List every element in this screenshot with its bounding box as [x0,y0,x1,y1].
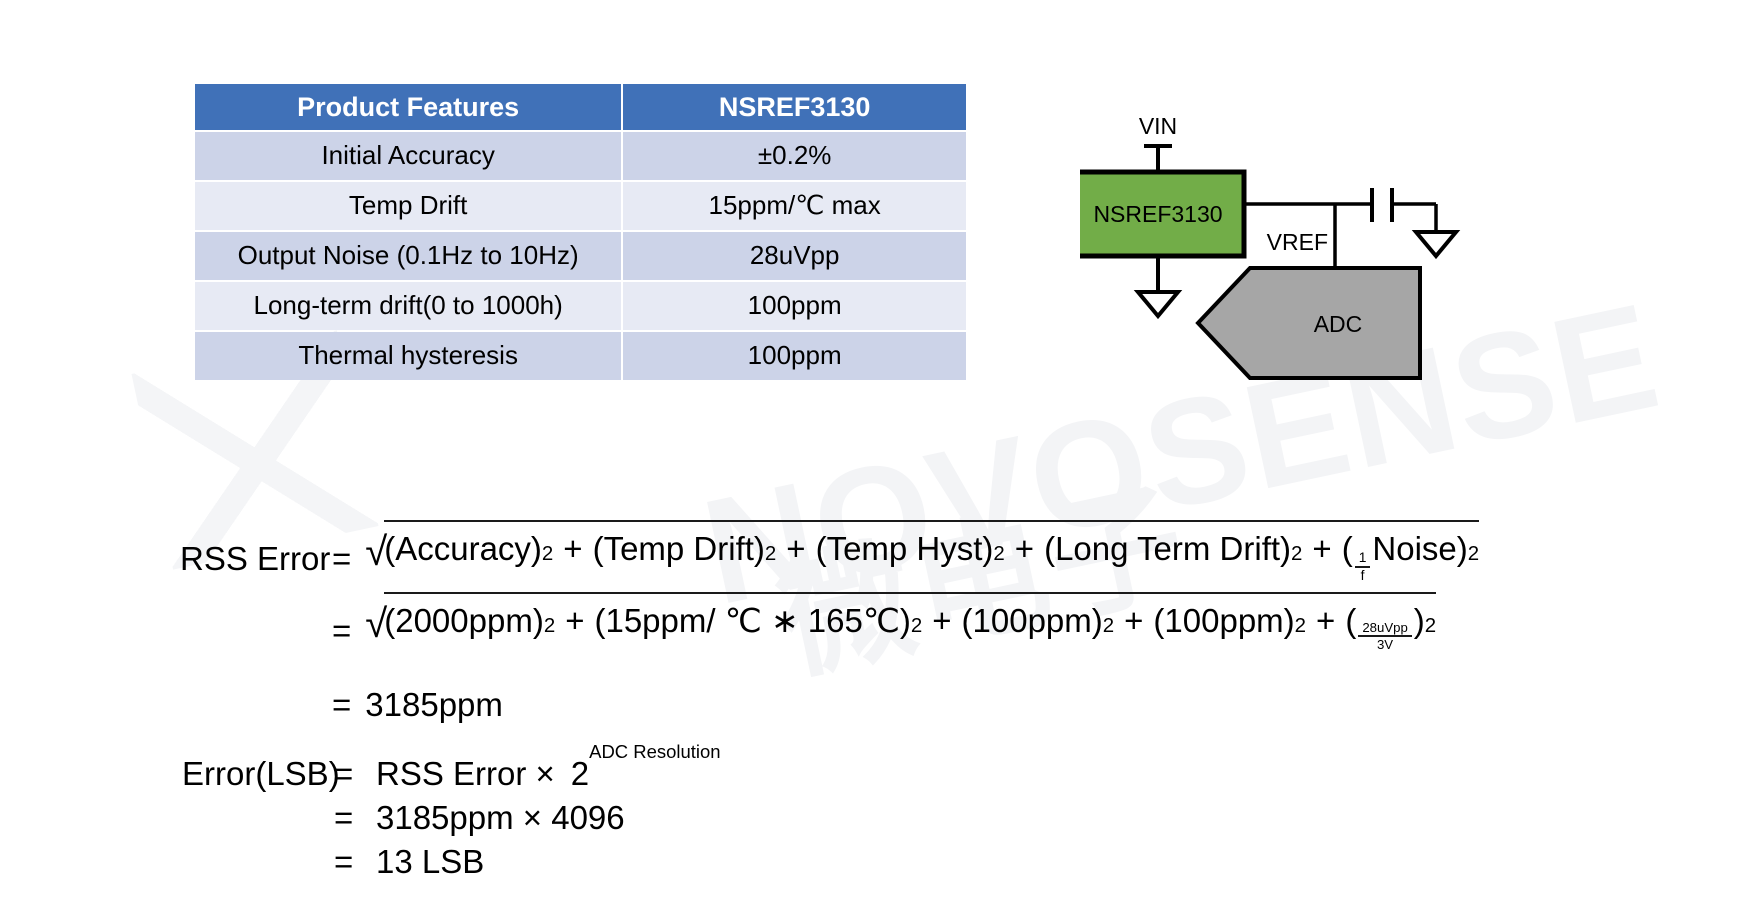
plus-sign-n2: + [932,604,951,637]
term-accuracy: (Accuracy) [384,532,542,565]
rss-error-formula-block: RSS Error = √ (Accuracy)2 + (Temp Drift)… [180,520,1479,721]
noise-fraction-numerator: 28uVpp [1358,620,1411,635]
plus-sign-2: + [786,532,805,565]
error-lsb-line-3: = 13 LSB [182,840,721,884]
cell-value-long-term-drift: 100ppm [623,282,966,330]
lsb-row2-expression: 3185ppm × 4096 [376,796,625,840]
nsref3130-block-label: NSREF3130 [1093,201,1222,227]
vref-label: VREF [1267,229,1328,255]
cell-feature-initial-accuracy: Initial Accuracy [195,132,621,180]
table-row: Initial Accuracy ±0.2% [195,132,966,180]
value-temp-hyst: (100ppm) [962,604,1103,637]
term-temp-drift: (Temp Drift) [593,532,765,565]
one-over-f-denominator: f [1355,566,1371,584]
radical-symbolic: √ (Accuracy)2 + (Temp Drift)2 + (Temp Hy… [365,520,1479,582]
noise-term-open-paren: ( [1342,532,1353,565]
plus-sign-n4: + [1316,604,1335,637]
lsb-label-spacer-2 [182,840,334,884]
lsb-power-base: 2 [571,752,589,796]
error-lsb-block: Error(LSB) = RSS Error × 2ADC Resolution… [182,752,721,885]
value-noise-close-paren: ) [1414,604,1425,637]
value-accuracy-ppm: (2000ppm) [384,604,544,637]
plus-sign-3: + [1015,532,1034,565]
lsb-equals-sign-1: = [334,752,376,796]
formula-equals-sign-3: = [332,666,365,721]
error-lsb-line-2: = 3185ppm × 4096 [182,796,721,840]
plus-sign-n1: + [565,604,584,637]
plus-sign-1: + [563,532,582,565]
error-lsb-line-1: Error(LSB) = RSS Error × 2ADC Resolution [182,752,721,796]
lsb-final-result: 13 LSB [376,840,484,884]
column-header-nsref3130: NSREF3130 [623,84,966,130]
formula-lhs-spacer-2 [180,666,332,688]
cell-value-initial-accuracy: ±0.2% [623,132,966,180]
circuit-diagram: VIN NSREF3130 VREF ADC [1080,110,1530,390]
term-long-term-drift: (Long Term Drift) [1044,532,1291,565]
noise-voltage-fraction: 28uVpp 3V [1358,620,1411,652]
table-header-row: Product Features NSREF3130 [195,84,966,130]
plus-sign-4: + [1312,532,1331,565]
formula-lhs-spacer [180,592,332,614]
adc-block [1198,268,1420,378]
cell-value-thermal-hysteresis: 100ppm [623,332,966,380]
value-temp-drift: (15ppm/ ℃ ∗ 165℃) [594,604,910,637]
table-row: Temp Drift 15ppm/℃ max [195,182,966,230]
table-row: Thermal hysteresis 100ppm [195,332,966,380]
error-lsb-label: Error(LSB) [182,752,334,796]
column-header-product-features: Product Features [195,84,621,130]
formula-line-result: = 3185ppm [180,666,1479,721]
term-temp-hyst: (Temp Hyst) [816,532,994,565]
value-noise-open-paren: ( [1345,604,1356,637]
cell-value-output-noise: 28uVpp [623,232,966,280]
noise-fraction-denominator: 3V [1358,635,1411,652]
lsb-equals-sign-2: = [334,796,376,840]
cell-feature-temp-drift: Temp Drift [195,182,621,230]
table-row: Long-term drift(0 to 1000h) 100ppm [195,282,966,330]
formula-equals-sign-1: = [332,520,365,575]
cell-feature-output-noise: Output Noise (0.1Hz to 10Hz) [195,232,621,280]
radicand-numeric: (2000ppm)2 + (15ppm/ ℃ ∗ 165℃)2 + (100pp… [384,592,1436,652]
value-long-term-drift: (100ppm) [1153,604,1294,637]
one-over-f-numerator: 1 [1355,550,1371,566]
capacitor-ground-symbol-icon [1416,232,1456,256]
noise-term-label: Noise) [1372,532,1467,565]
cell-value-temp-drift: 15ppm/℃ max [623,182,966,230]
radicand-symbolic: (Accuracy)2 + (Temp Drift)2 + (Temp Hyst… [384,520,1479,582]
lsb-power-exponent: ADC Resolution [589,752,720,796]
cell-feature-long-term-drift: Long-term drift(0 to 1000h) [195,282,621,330]
lsb-label-spacer-1 [182,796,334,840]
vin-label: VIN [1139,113,1177,139]
radical-numeric: √ (2000ppm)2 + (15ppm/ ℃ ∗ 165℃)2 + (100… [365,592,1436,652]
cell-feature-thermal-hysteresis: Thermal hysteresis [195,332,621,380]
formula-line-symbolic: RSS Error = √ (Accuracy)2 + (Temp Drift)… [180,520,1479,582]
formula-equals-sign-2: = [332,592,365,647]
plus-sign-n3: + [1124,604,1143,637]
adc-block-label: ADC [1314,311,1363,337]
formula-line-numeric: = √ (2000ppm)2 + (15ppm/ ℃ ∗ 165℃)2 + (1… [180,592,1479,652]
ground-symbol-icon [1138,292,1178,316]
product-features-table: Product Features NSREF3130 Initial Accur… [193,82,968,382]
formula-lhs-label: RSS Error [180,520,332,575]
one-over-f-fraction: 1 f [1355,550,1371,584]
rss-error-result-value: 3185ppm [365,666,503,721]
lsb-equals-sign-3: = [334,840,376,884]
lsb-row1-expression: RSS Error × [376,752,555,796]
table-row: Output Noise (0.1Hz to 10Hz) 28uVpp [195,232,966,280]
